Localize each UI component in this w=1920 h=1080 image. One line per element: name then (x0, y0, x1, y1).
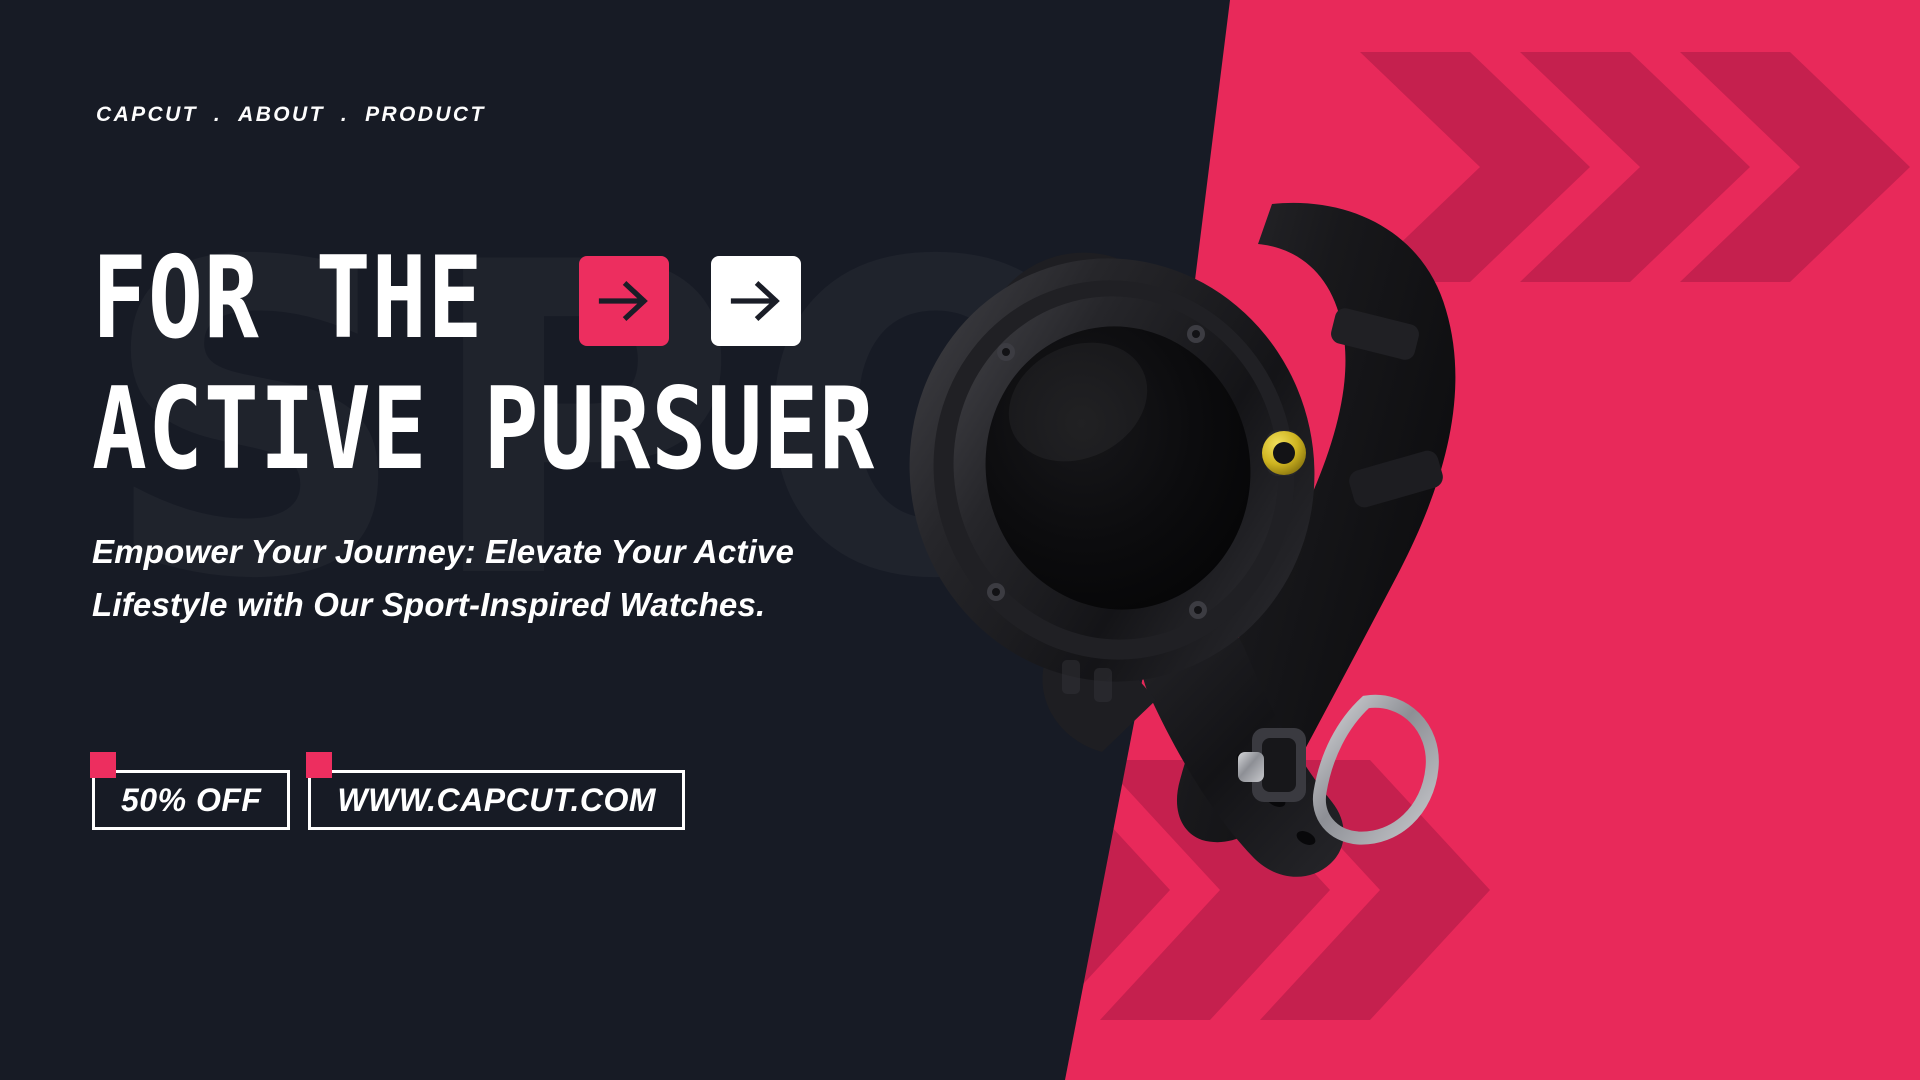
top-navigation: CAPCUT . ABOUT . PRODUCT (96, 103, 486, 127)
nav-separator: . (325, 103, 365, 127)
nav-item-about[interactable]: ABOUT (238, 103, 325, 127)
arrow-right-icon (594, 271, 654, 331)
smartwatch-illustration (880, 140, 1560, 880)
nav-separator: . (198, 103, 238, 127)
subheading-block: Empower Your Journey: Elevate Your Activ… (92, 525, 852, 632)
website-badge[interactable]: WWW.CAPCUT.COM (308, 770, 685, 830)
corner-accent-square (90, 752, 116, 778)
nav-item-product[interactable]: PRODUCT (365, 103, 486, 127)
bottom-badge-group: 50% OFF WWW.CAPCUT.COM (92, 770, 685, 830)
discount-badge-label: 50% OFF (121, 782, 261, 819)
arrow-button-white[interactable] (711, 256, 801, 346)
headline-row-2: ACTIVE PURSUER (92, 390, 992, 472)
product-image-smartwatch (880, 140, 1560, 880)
headline-line-2: ACTIVE PURSUER (92, 377, 875, 485)
headline-line-1: FOR THE (92, 246, 484, 354)
arrow-button-group (579, 256, 801, 346)
website-badge-label: WWW.CAPCUT.COM (337, 782, 656, 819)
discount-badge[interactable]: 50% OFF (92, 770, 290, 830)
promo-banner: SPO CAPCUT . ABOUT . PRODUCT FOR THE (0, 0, 1920, 1080)
arrow-right-icon (726, 271, 786, 331)
subheading-line-2: Lifestyle with Our Sport-Inspired Watche… (92, 578, 852, 631)
corner-accent-square (306, 752, 332, 778)
subheading-line-1: Empower Your Journey: Elevate Your Activ… (92, 525, 852, 578)
arrow-button-pink[interactable] (579, 256, 669, 346)
headline-row-1: FOR THE (92, 254, 992, 346)
nav-item-capcut[interactable]: CAPCUT (96, 103, 198, 127)
headline-block: FOR THE ACTIVE PURSUER (92, 254, 992, 472)
